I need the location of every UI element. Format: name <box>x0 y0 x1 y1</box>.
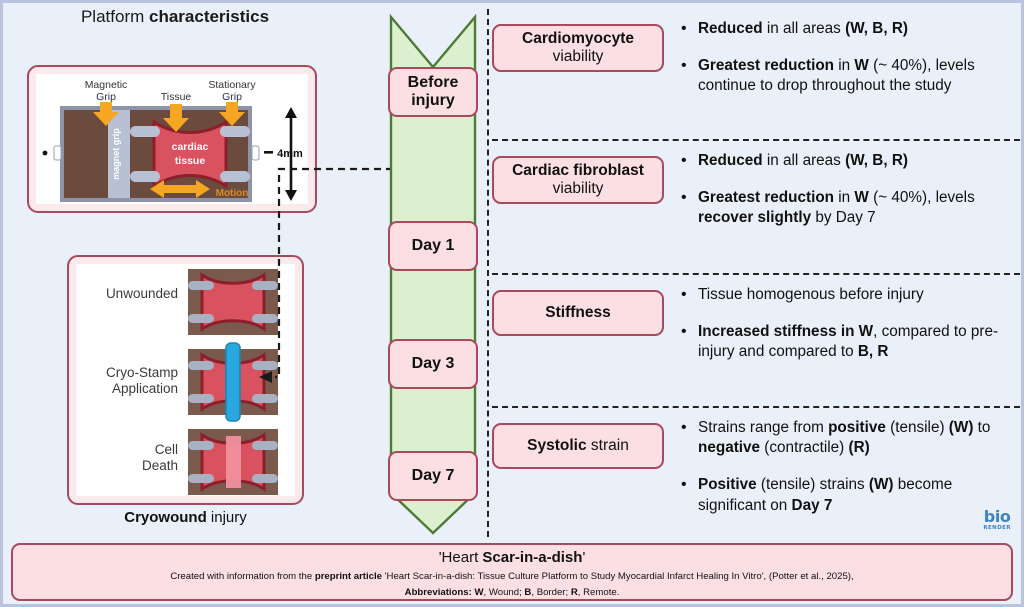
section-chip-cardiomyocyte-viability[interactable]: Cardiomyocyteviability <box>492 24 664 72</box>
chip-normal: viability <box>553 48 604 65</box>
label-stationary-grip-line1: Stationary <box>208 79 256 91</box>
cryo-stamp-probe <box>226 343 240 421</box>
platform-title-normal: Platform <box>81 7 149 26</box>
footer-credit-b: 'Heart Scar-in-a-dish: Tissue Culture Pl… <box>382 571 854 582</box>
cryo-label-death-line1: Cell <box>155 442 178 457</box>
scale-arrow-up <box>285 107 297 118</box>
abbrev-remote: , Remote. <box>578 587 620 598</box>
footer-credit-a: Created with information from the <box>170 571 315 582</box>
section-systolic-strain: Systolic strain Strains range from posit… <box>492 406 1020 537</box>
timeline-chip-text: Beforeinjury <box>408 74 459 110</box>
reservoir-left <box>64 110 108 198</box>
cryowound-caption-normal: injury <box>207 509 247 526</box>
cryowound-timeline-connector <box>253 153 403 393</box>
label-magnetic-grip-line1: Magnetic <box>85 79 128 91</box>
timeline-chip-day-3[interactable]: Day 3 <box>388 339 478 389</box>
findings-sections: Cardiomyocyteviability Reduced in all ar… <box>492 9 1020 537</box>
cryo-label-unwounded: Unwounded <box>106 286 178 301</box>
section-cardiomyocyte-viability: Cardiomyocyteviability Reduced in all ar… <box>492 9 1020 139</box>
section-chip-cardiac-fibroblast-viability[interactable]: Cardiac fibroblastviability <box>492 156 664 204</box>
cryo-label-stamp-line1: Cryo-Stamp <box>106 365 178 380</box>
biorender-logo: bio RENDER <box>983 509 1011 531</box>
bullet-list-systolic-strain: Strains range from positive (tensile) (W… <box>664 418 1020 533</box>
study-timeline: Beforeinjury Day 1 Day 3 Day 7 <box>387 9 487 537</box>
footer-title-normal: 'Heart <box>439 549 483 566</box>
section-cardiac-fibroblast-viability: Cardiac fibroblastviability Reduced in a… <box>492 139 1020 273</box>
section-chip-systolic-strain[interactable]: Systolic strain <box>492 423 664 469</box>
timeline-chip-text: Day 1 <box>412 237 455 255</box>
label-stationary-grip-line2: Grip <box>222 91 242 103</box>
connector-arrowhead <box>259 371 272 383</box>
cardiac-tissue-shape <box>154 122 226 186</box>
label-magnetic-grip-line2: Grip <box>96 91 116 103</box>
section-stiffness: Stiffness Tissue homogenous before injur… <box>492 273 1020 406</box>
label-cardiac-tissue-line1: cardiac <box>172 141 209 153</box>
bullet-item: Reduced in all areas (W, B, R) <box>698 19 1014 39</box>
grip-post-br <box>220 171 250 182</box>
platform-title-bold: characteristics <box>149 7 269 26</box>
cell-death-zone <box>226 436 241 488</box>
abbrev-label: Abbreviations: W <box>405 587 484 598</box>
infographic-figure: Platform characteristics Magnetic Grip T… <box>0 0 1024 607</box>
label-magnet-grip-vertical: magnet grip <box>111 128 121 180</box>
cryo-label-stamp-line2: Application <box>112 381 178 396</box>
bullet-item: Strains range from positive (tensile) (W… <box>698 418 1014 458</box>
tab-left <box>54 146 61 160</box>
footer-credit-line: Created with information from the prepri… <box>13 570 1011 584</box>
vertical-dashed-divider <box>487 9 489 537</box>
label-tissue: Tissue <box>161 91 192 103</box>
timeline-chip-day-7[interactable]: Day 7 <box>388 451 478 501</box>
figure-footer: 'Heart Scar-in-a-dish' Created with info… <box>11 543 1013 601</box>
timeline-chip-text: Day 3 <box>412 355 455 373</box>
chip-bold: Cardiac fibroblast <box>512 162 644 179</box>
biorender-logo-main: bio <box>983 509 1011 525</box>
bullet-item: Greatest reduction in W (~ 40%), levels … <box>698 188 1014 228</box>
footer-title: 'Heart Scar-in-a-dish' <box>13 549 1011 568</box>
chip-bold: Stiffness <box>545 304 610 321</box>
footer-abbreviations-line: Abbreviations: W, Wound; B, Border; R, R… <box>13 586 1011 600</box>
cryo-label-death-line2: Death <box>142 458 178 473</box>
section-chip-stiffness[interactable]: Stiffness <box>492 290 664 336</box>
footer-title-tail: ' <box>582 549 585 566</box>
timeline-chip-before-injury[interactable]: Beforeinjury <box>388 67 478 117</box>
abbrev-border: , Border; <box>531 587 570 598</box>
bullet-item: Increased stiffness in W, compared to pr… <box>698 322 1014 362</box>
abbrev-wound: , Wound; <box>484 587 525 598</box>
bullet-item: Tissue homogenous before injury <box>698 285 1014 305</box>
bullet-item: Reduced in all areas (W, B, R) <box>698 151 1014 171</box>
biorender-logo-sub: RENDER <box>983 526 1011 531</box>
bullet-list-stiffness: Tissue homogenous before injury Increase… <box>664 285 1020 380</box>
chip-normal: viability <box>553 180 604 197</box>
bullet-item: Positive (tensile) strains (W) become si… <box>698 475 1014 515</box>
timeline-chip-day-1[interactable]: Day 1 <box>388 221 478 271</box>
label-motion: Motion <box>216 188 249 199</box>
chip-bold: Systolic <box>527 437 586 454</box>
bullet-list-cardiomyocyte: Reduced in all areas (W, B, R) Greatest … <box>664 19 1020 114</box>
cryowound-caption: Cryowound injury <box>67 509 304 526</box>
dot-left <box>43 151 48 156</box>
chip-bold: Cardiomyocyte <box>522 30 634 47</box>
footer-credit-bold: preprint article <box>315 571 382 582</box>
connector-path <box>275 169 393 377</box>
chip-normal: strain <box>587 437 629 454</box>
timeline-chip-text: Day 7 <box>412 467 455 485</box>
cryowound-caption-bold: Cryowound <box>124 509 207 526</box>
footer-title-bold: Scar-in-a-dish <box>482 549 582 566</box>
grip-post-tl <box>130 126 160 137</box>
grip-post-tr <box>220 126 250 137</box>
bullet-item: Greatest reduction in W (~ 40%), levels … <box>698 56 1014 96</box>
bullet-list-fibroblast: Reduced in all areas (W, B, R) Greatest … <box>664 151 1020 246</box>
label-cardiac-tissue-line2: tissue <box>175 155 206 167</box>
platform-characteristics-title: Platform characteristics <box>25 7 325 27</box>
abbrev-r: R <box>571 587 578 598</box>
grip-post-bl <box>130 171 160 182</box>
